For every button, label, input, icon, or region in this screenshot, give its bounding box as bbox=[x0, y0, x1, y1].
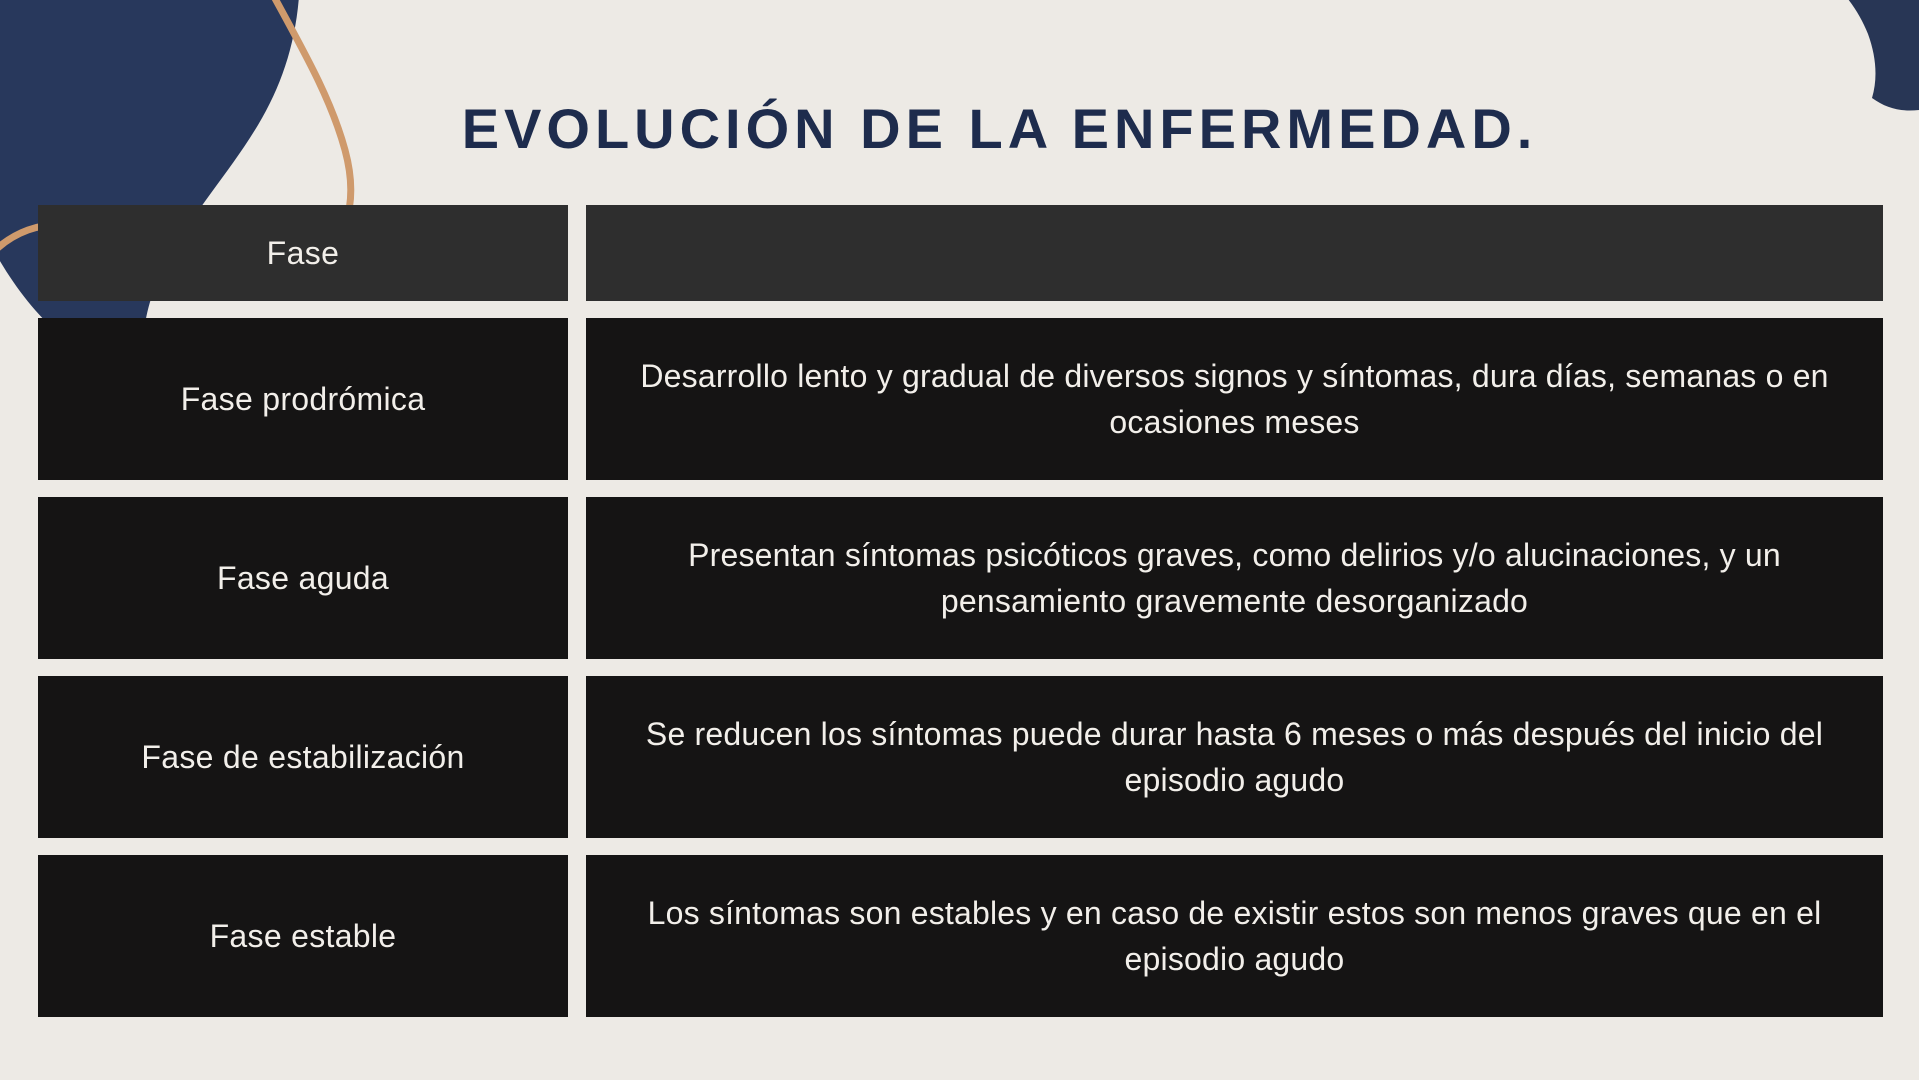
cell-description-prodromica: Desarrollo lento y gradual de diversos s… bbox=[586, 318, 1883, 480]
table-row: Fase aguda Presentan síntomas psicóticos… bbox=[38, 497, 1883, 659]
cell-description-aguda: Presentan síntomas psicóticos graves, co… bbox=[586, 497, 1883, 659]
navy-small-blob-icon bbox=[1830, 0, 1919, 111]
cell-description-estable: Los síntomas son estables y en caso de e… bbox=[586, 855, 1883, 1017]
cell-phase-estable: Fase estable bbox=[38, 855, 568, 1017]
table-row: Fase de estabilización Se reducen los sí… bbox=[38, 676, 1883, 838]
cell-phase-aguda: Fase aguda bbox=[38, 497, 568, 659]
cell-phase-prodromica: Fase prodrómica bbox=[38, 318, 568, 480]
page-title: EVOLUCIÓN DE LA ENFERMEDAD. bbox=[0, 96, 1919, 161]
column-header-phase: Fase bbox=[38, 205, 568, 301]
cell-description-estabilizacion: Se reducen los síntomas puede durar hast… bbox=[586, 676, 1883, 838]
table-row: Fase estable Los síntomas son estables y… bbox=[38, 855, 1883, 1017]
cell-phase-estabilizacion: Fase de estabilización bbox=[38, 676, 568, 838]
phase-evolution-table: Fase Fase prodrómica Desarrollo lento y … bbox=[38, 205, 1883, 1017]
column-header-description bbox=[586, 205, 1883, 301]
table-row: Fase prodrómica Desarrollo lento y gradu… bbox=[38, 318, 1883, 480]
table-header-row: Fase bbox=[38, 205, 1883, 301]
